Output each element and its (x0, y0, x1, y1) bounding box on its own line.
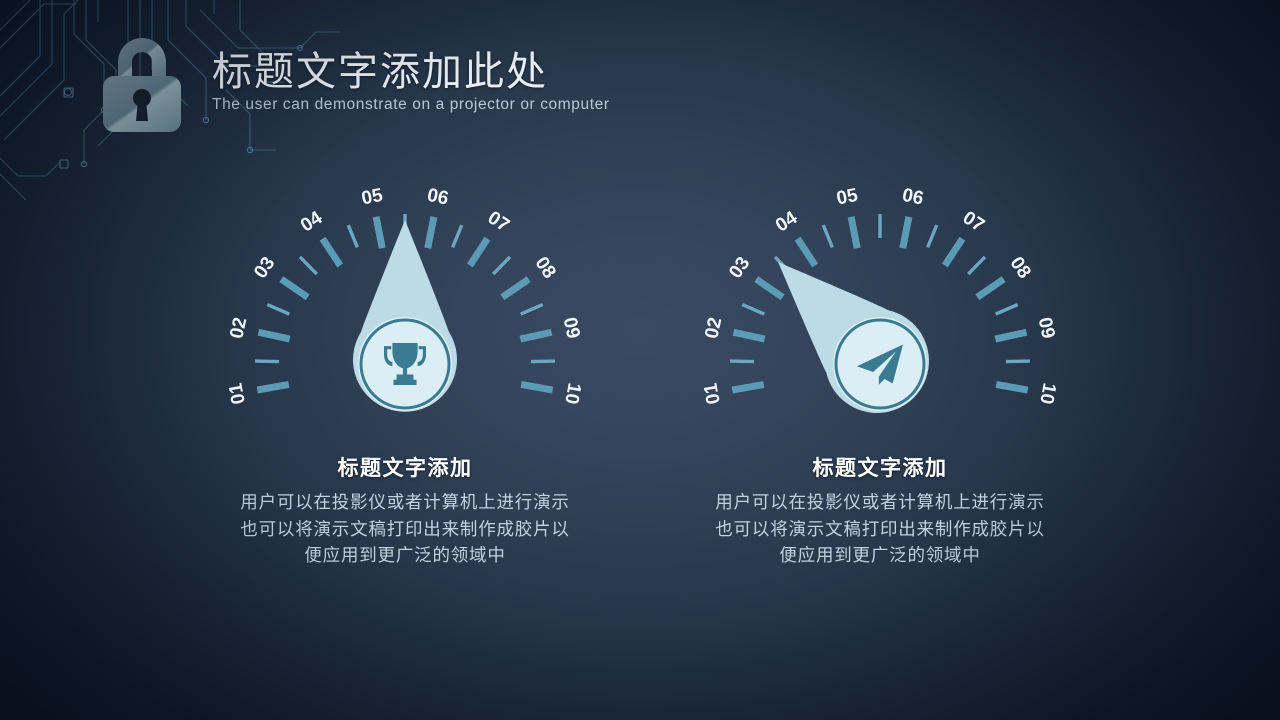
gauge-dial-left: 01020304050607080910 (195, 168, 615, 438)
caption-line: 用户可以在投影仪或者计算机上进行演示 (686, 489, 1074, 516)
tick (996, 305, 1018, 315)
tick (945, 239, 963, 266)
tick (903, 217, 909, 248)
tick (521, 305, 543, 315)
tick-label: 07 (484, 207, 513, 236)
tick-label: 01 (225, 381, 249, 406)
tick (323, 239, 341, 266)
tick (348, 225, 357, 247)
panel-caption-left: 标题文字添加 用户可以在投影仪或者计算机上进行演示 也可以将演示文稿打印出来制作… (195, 452, 615, 569)
caption-title: 标题文字添加 (211, 452, 599, 482)
slide-canvas: 标题文字添加此处 The user can demonstrate on a p… (0, 0, 1280, 720)
tick (376, 217, 382, 248)
gauge-panel-right[interactable]: 01020304050607080910 标题文字添加 用户可以在投影仪或者计 (670, 168, 1090, 569)
tick-label: 09 (559, 315, 584, 340)
tick (502, 279, 528, 297)
tick-label: 05 (835, 185, 860, 210)
gauge-marker-left[interactable] (353, 220, 457, 412)
caption-line: 便应用到更广泛的领域中 (211, 542, 599, 569)
panel-caption-right: 标题文字添加 用户可以在投影仪或者计算机上进行演示 也可以将演示文稿打印出来制作… (670, 452, 1090, 569)
caption-line: 也可以将演示文稿打印出来制作成胶片以 (211, 516, 599, 543)
tick (428, 217, 434, 248)
tick (968, 257, 985, 274)
tick-label: 07 (959, 207, 988, 236)
tick (493, 257, 510, 274)
tick (996, 384, 1028, 390)
tick (928, 225, 937, 247)
caption-line: 便应用到更广泛的领域中 (686, 542, 1074, 569)
tick (521, 384, 553, 390)
tick (281, 279, 307, 297)
gauge-panel-left[interactable]: 01020304050607080910 标题文字添加 用户可以在投影仪或 (195, 168, 615, 569)
tick (453, 225, 462, 247)
tick-label: 06 (900, 185, 925, 210)
tick (732, 384, 764, 390)
tick-label: 10 (1035, 381, 1059, 405)
tick (733, 332, 764, 339)
tick (520, 332, 551, 339)
tick-label: 02 (701, 315, 726, 340)
tick (267, 305, 289, 315)
tick-label: 03 (725, 253, 754, 282)
tick (995, 332, 1026, 339)
page-subtitle: The user can demonstrate on a projector … (212, 96, 610, 114)
page-title: 标题文字添加此处 (212, 51, 610, 93)
tick-label: 09 (1034, 315, 1059, 340)
tick-label: 04 (297, 207, 327, 236)
tick (742, 305, 764, 315)
tick (300, 257, 317, 274)
tick-label: 06 (425, 185, 450, 210)
tick (470, 239, 488, 266)
tick-label: 01 (700, 381, 724, 406)
caption-title: 标题文字添加 (686, 452, 1074, 482)
tick-label: 05 (360, 185, 385, 210)
gauge-dial-right: 01020304050607080910 (670, 168, 1090, 438)
tick (257, 384, 289, 390)
tick-label: 10 (560, 381, 584, 405)
tick (823, 225, 832, 247)
tick (851, 217, 857, 248)
caption-line: 用户可以在投影仪或者计算机上进行演示 (211, 489, 599, 516)
slide-header: 标题文字添加此处 The user can demonstrate on a p… (88, 32, 610, 136)
header-text-block: 标题文字添加此处 The user can demonstrate on a p… (212, 51, 610, 118)
tick (798, 239, 816, 266)
tick-label: 08 (531, 253, 560, 282)
tick (258, 332, 289, 339)
tick-label: 08 (1006, 253, 1035, 282)
gauge-marker-right[interactable] (741, 225, 950, 434)
tick (977, 279, 1003, 297)
tick-label: 04 (772, 207, 802, 236)
tick-label: 02 (226, 315, 251, 340)
tick-label: 03 (250, 253, 279, 282)
tick (756, 279, 782, 297)
caption-line: 也可以将演示文稿打印出来制作成胶片以 (686, 516, 1074, 543)
lock-icon (88, 32, 196, 136)
